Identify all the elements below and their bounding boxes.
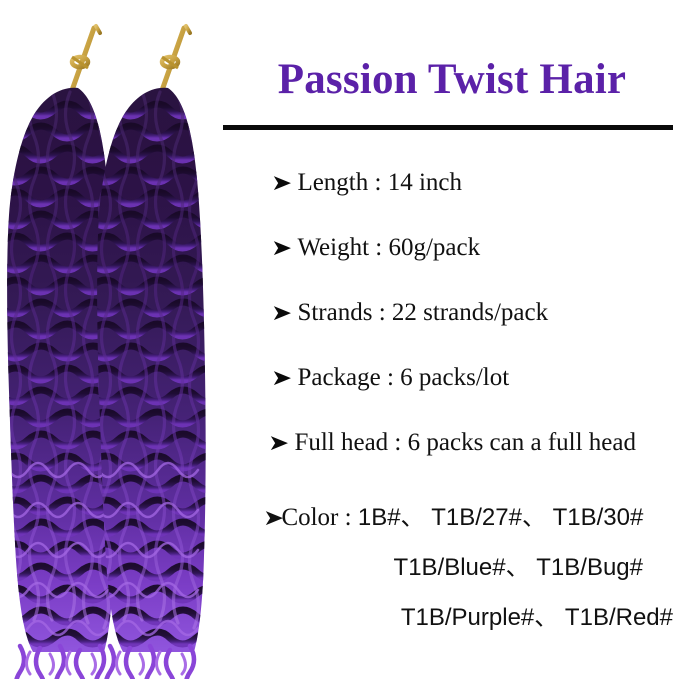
spec-item-full-head: ➤Full head : 6 packs can a full head bbox=[222, 428, 679, 493]
color-line-2: T1B/Blue#、 T1B/Bug# bbox=[222, 543, 679, 593]
spec-list: ➤Length : 14 inch ➤Weight : 60g/pack ➤St… bbox=[222, 168, 679, 493]
spec-item-color: ➤Color : 1B#、 T1B/27#、 T1B/30# T1B/Blue#… bbox=[222, 493, 679, 643]
color-line-3: T1B/Purple#、 T1B/Red# bbox=[222, 593, 679, 643]
arrow-bullet-icon: ➤ bbox=[268, 428, 289, 458]
color-label-group: ➤Color : bbox=[263, 504, 358, 531]
arrow-bullet-icon: ➤ bbox=[271, 233, 292, 263]
spec-item-length-text: Length : 14 inch bbox=[289, 168, 462, 198]
color-options-line-1: 1B#、 T1B/27#、 T1B/30# bbox=[358, 504, 644, 531]
product-info-panel: Passion Twist Hair ➤Length : 14 inch ➤We… bbox=[222, 0, 679, 679]
arrow-bullet-icon: ➤ bbox=[271, 168, 292, 198]
color-label: Color : bbox=[281, 504, 357, 531]
arrow-bullet-icon: ➤ bbox=[271, 363, 292, 393]
spec-item-package-text: Package : 6 packs/lot bbox=[289, 363, 509, 393]
product-infographic-canvas: Passion Twist Hair ➤Length : 14 inch ➤We… bbox=[0, 0, 679, 679]
title-divider bbox=[223, 125, 673, 130]
spec-item-package: ➤Package : 6 packs/lot bbox=[222, 363, 679, 428]
spec-item-weight: ➤Weight : 60g/pack bbox=[222, 233, 679, 298]
spec-item-length: ➤Length : 14 inch bbox=[222, 168, 679, 233]
arrow-bullet-icon: ➤ bbox=[263, 493, 284, 543]
spec-item-strands: ➤Strands : 22 strands/pack bbox=[222, 298, 679, 363]
spec-item-full-head-text: Full head : 6 packs can a full head bbox=[286, 428, 636, 458]
page-title: Passion Twist Hair bbox=[226, 56, 678, 104]
color-line-1: ➤Color : 1B#、 T1B/27#、 T1B/30# bbox=[222, 493, 679, 543]
spec-item-strands-text: Strands : 22 strands/pack bbox=[289, 298, 548, 328]
arrow-bullet-icon: ➤ bbox=[271, 298, 292, 328]
product-hair-photo bbox=[0, 0, 246, 679]
spec-item-weight-text: Weight : 60g/pack bbox=[289, 233, 480, 263]
